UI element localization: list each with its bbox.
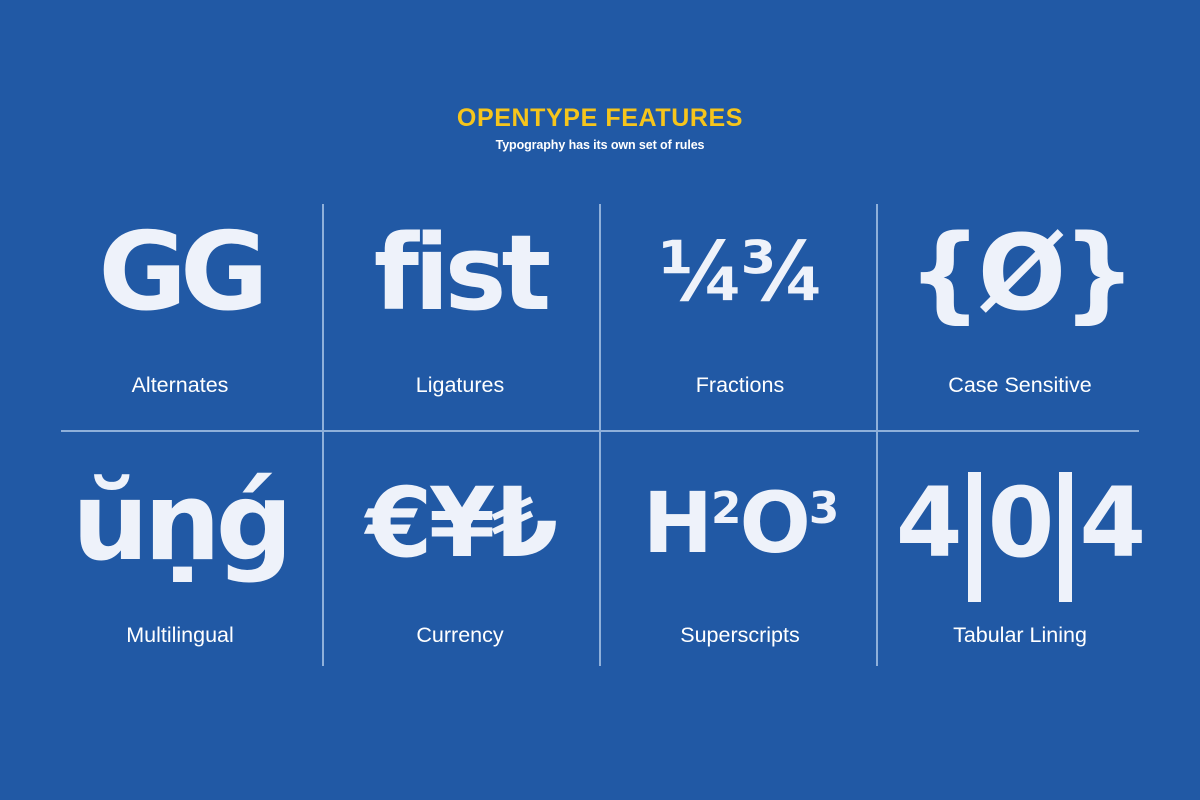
feature-cell-alternates[interactable]: GG Alternates — [40, 188, 320, 438]
glyph-box: GG — [40, 188, 320, 358]
tabular-bar-2 — [1059, 472, 1072, 602]
superscripts-sup-2: 2 — [711, 483, 739, 534]
poster-canvas: OPENTYPE FEATURES Typography has its own… — [0, 0, 1200, 800]
tabular-digit-2: 0 — [988, 467, 1053, 579]
feature-label-tabular-lining: Tabular Lining — [953, 622, 1087, 648]
feature-label-fractions: Fractions — [696, 372, 784, 398]
fractions-glyph: ¼¾ — [659, 232, 821, 314]
feature-cell-ligatures[interactable]: fist Ligatures — [320, 188, 600, 438]
page-title: OPENTYPE FEATURES — [0, 103, 1200, 133]
case-sensitive-glyph: {Ø} — [908, 221, 1133, 325]
multilingual-glyph: ŭṇǵ — [72, 469, 288, 577]
header: OPENTYPE FEATURES Typography has its own… — [0, 103, 1200, 153]
glyph-box: ŭṇǵ — [40, 438, 320, 608]
glyph-box: €¥₺ — [320, 438, 600, 608]
tabular-digit-3: 4 — [1079, 467, 1144, 579]
tabular-bar-1 — [968, 472, 981, 602]
feature-label-currency: Currency — [416, 622, 503, 648]
glyph-box: 404 — [880, 438, 1160, 608]
feature-grid: GG Alternates fist Ligatures ¼¾ Fraction… — [40, 188, 1160, 688]
alternates-glyph: GG — [98, 219, 261, 327]
glyph-box: fist — [320, 188, 600, 358]
superscripts-base-h: H — [643, 474, 711, 572]
feature-label-multilingual: Multilingual — [126, 622, 234, 648]
page-subtitle: Typography has its own set of rules — [0, 137, 1200, 153]
feature-cell-superscripts[interactable]: H2O3 Superscripts — [600, 438, 880, 688]
feature-cell-multilingual[interactable]: ŭṇǵ Multilingual — [40, 438, 320, 688]
ligatures-glyph: fist — [374, 221, 547, 325]
superscripts-glyph: H2O3 — [643, 481, 838, 565]
glyph-box: H2O3 — [600, 438, 880, 608]
superscripts-base-o: O — [739, 474, 808, 572]
feature-label-superscripts: Superscripts — [680, 622, 800, 648]
feature-label-case-sensitive: Case Sensitive — [948, 372, 1091, 398]
feature-cell-fractions[interactable]: ¼¾ Fractions — [600, 188, 880, 438]
currency-glyph: €¥₺ — [366, 475, 554, 571]
tabular-lining-glyph: 404 — [896, 458, 1144, 588]
tabular-digit-1: 4 — [896, 467, 961, 579]
feature-label-alternates: Alternates — [132, 372, 229, 398]
feature-cell-currency[interactable]: €¥₺ Currency — [320, 438, 600, 688]
feature-cell-case-sensitive[interactable]: {Ø} Case Sensitive — [880, 188, 1160, 438]
feature-cell-tabular-lining[interactable]: 404 Tabular Lining — [880, 438, 1160, 688]
glyph-box: ¼¾ — [600, 188, 880, 358]
feature-label-ligatures: Ligatures — [416, 372, 504, 398]
glyph-box: {Ø} — [880, 188, 1160, 358]
superscripts-sup-3: 3 — [809, 483, 837, 534]
